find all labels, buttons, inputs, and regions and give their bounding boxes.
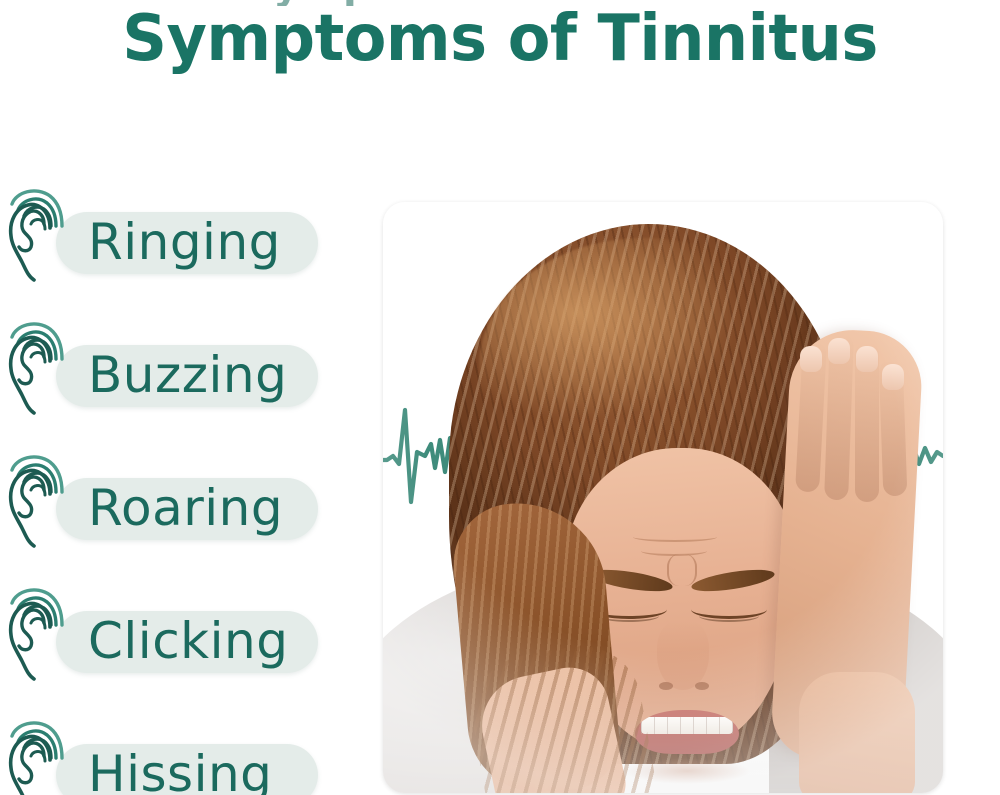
ear-soundwave-icon — [6, 188, 70, 288]
symptom-label: Ringing — [88, 206, 281, 278]
brow-furrow — [667, 554, 697, 586]
symptom-item-hissing[interactable]: Hissing — [0, 718, 345, 795]
ear-soundwave-icon — [6, 587, 70, 687]
symptom-item-clicking[interactable]: Clicking — [0, 585, 345, 718]
fingernail — [800, 346, 822, 372]
symptom-label: Roaring — [88, 472, 283, 544]
symptom-label: Hissing — [88, 738, 272, 795]
subject-figure — [383, 202, 943, 793]
symptom-label: Buzzing — [88, 339, 287, 411]
page-title: Symptoms of Tinnitus — [15, 2, 985, 76]
symptom-item-buzzing[interactable]: Buzzing — [0, 319, 345, 452]
ear-soundwave-icon — [6, 454, 70, 554]
fingernail — [882, 364, 904, 390]
wrist — [799, 672, 915, 793]
symptom-list: Ringing Buzzing — [0, 186, 345, 795]
nostril-left — [659, 682, 673, 690]
teeth — [641, 717, 733, 734]
hair-highlight — [479, 238, 809, 488]
symptom-item-roaring[interactable]: Roaring — [0, 452, 345, 585]
fingernail — [856, 346, 878, 372]
symptom-label: Clicking — [88, 605, 288, 677]
chin-shadow — [623, 758, 751, 784]
mouth-grimace — [635, 710, 739, 754]
eyelash-right — [699, 610, 759, 622]
nose — [657, 620, 709, 690]
tinnitus-symptoms-infographic: Symptoms of Tinnitus Symptoms of Tinnitu… — [0, 0, 1000, 795]
photo-panel — [383, 202, 943, 793]
ear-soundwave-icon — [6, 720, 70, 795]
symptom-item-ringing[interactable]: Ringing — [0, 186, 345, 319]
forehead-wrinkle — [633, 532, 717, 542]
nostril-right — [695, 682, 709, 690]
ear-soundwave-icon — [6, 321, 70, 421]
fingernail — [828, 338, 850, 364]
photo-image — [383, 202, 943, 793]
